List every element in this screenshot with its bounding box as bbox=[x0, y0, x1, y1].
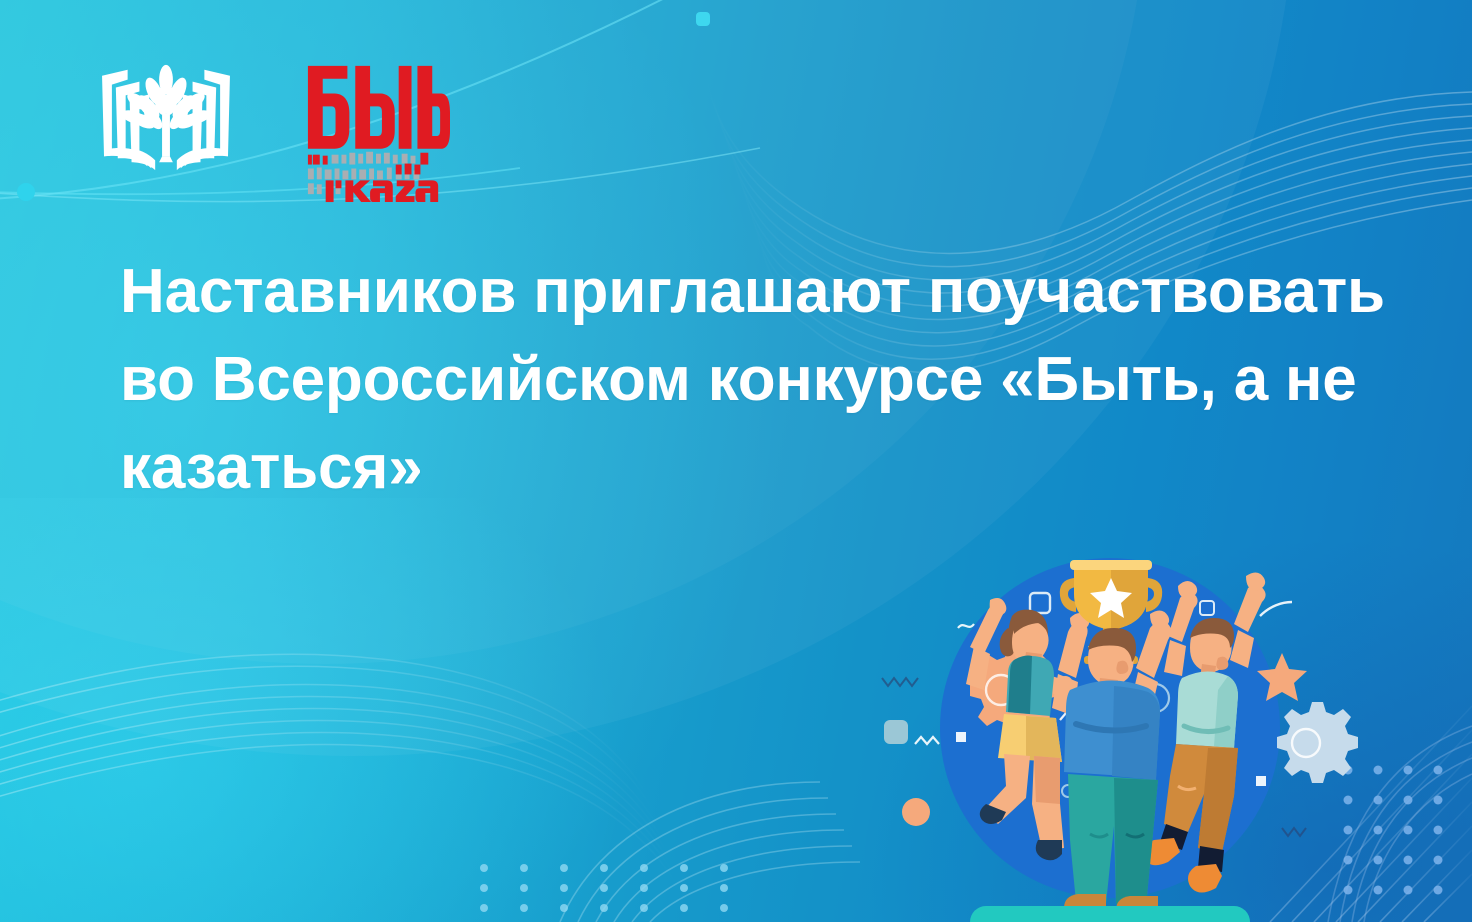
decoration-rounded-square bbox=[884, 720, 908, 744]
decoration-squiggle-dark-right bbox=[1282, 828, 1306, 836]
byt-logo-kazatsya bbox=[345, 180, 438, 202]
byt-logo-wordmark-primary bbox=[308, 66, 450, 149]
arc-lines-under-podium bbox=[560, 782, 860, 922]
decoration-arc-white bbox=[1260, 602, 1292, 616]
wave-lines-bottom-left bbox=[0, 654, 680, 890]
illustration-celebration bbox=[862, 528, 1342, 922]
decoration-square-small-left bbox=[956, 732, 966, 742]
open-book-with-tree-emblem bbox=[92, 58, 240, 180]
illustration-svg bbox=[862, 528, 1342, 922]
accent-dot-top bbox=[696, 12, 710, 26]
dot-grid-bottom-left bbox=[480, 864, 728, 912]
logo-row bbox=[92, 58, 450, 206]
decoration-squiggle-white-a bbox=[915, 737, 939, 744]
decoration-squiggle-left bbox=[882, 678, 918, 686]
decoration-circle-orange bbox=[902, 798, 930, 826]
podium bbox=[904, 906, 1274, 922]
page-title: Наставников приглашают поучаствовать во … bbox=[120, 248, 1410, 512]
decoration-square-small-right bbox=[1256, 776, 1266, 786]
decoration-squiggle-white-c bbox=[958, 624, 974, 628]
decoration-gear-light bbox=[1277, 702, 1358, 783]
promo-banner: Наставников приглашают поучаствовать во … bbox=[0, 0, 1472, 922]
podium-top bbox=[970, 906, 1250, 922]
byt-a-ne-kazatsya-logo bbox=[302, 58, 450, 206]
